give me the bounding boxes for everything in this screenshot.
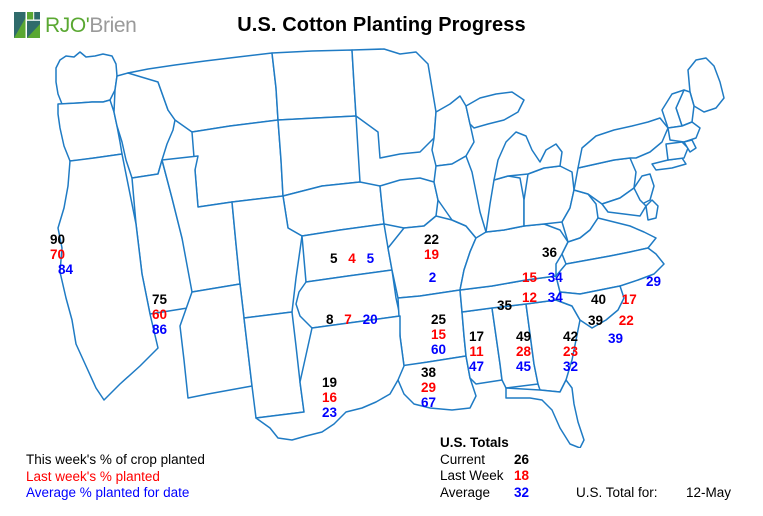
tn-last-week: 12 <box>522 290 537 305</box>
state-values-ga: 42 23 32 <box>563 329 578 374</box>
state-values-la: 38 29 67 <box>421 365 436 410</box>
ca-current: 90 <box>42 232 73 247</box>
al-average: 45 <box>516 359 531 374</box>
sc-current: 39 <box>588 313 603 328</box>
state-shape-mi-up <box>466 92 524 128</box>
az-current: 75 <box>152 292 167 307</box>
totals-row-current: Current26 <box>440 452 529 469</box>
ks-last-week: 4 <box>348 251 356 266</box>
totals-row-last-week: Last Week18 <box>440 468 529 485</box>
mo-last-week: 19 <box>424 247 439 262</box>
ar-last-week: 15 <box>431 327 446 342</box>
la-last-week: 29 <box>421 380 436 395</box>
al-current: 49 <box>516 329 531 344</box>
state-shape-ct <box>666 142 688 160</box>
state-shape-nm <box>244 312 304 418</box>
state-values-nc-average: 29 <box>646 274 661 289</box>
state-values-ca: 90 70 84 <box>42 232 73 277</box>
ks-current: 5 <box>330 251 338 266</box>
state-values-al: 49 28 45 <box>516 329 531 374</box>
tn-average: 34 <box>548 290 563 305</box>
tn-current: 35 <box>497 298 512 313</box>
totals-label-last-week: Last Week <box>440 468 514 485</box>
state-values-tn-detail: 12 34 <box>522 290 563 305</box>
state-values-ky-detail: 15 34 <box>522 270 563 285</box>
totals-value-last-week: 18 <box>514 468 529 483</box>
state-shape-la <box>398 356 476 410</box>
state-values-tx: 19 16 23 <box>322 375 337 420</box>
state-shape-de <box>646 200 658 220</box>
us-totals-title: U.S. Totals <box>440 435 529 452</box>
az-average: 86 <box>152 322 167 337</box>
mo-current: 22 <box>424 232 439 247</box>
us-total-date: 12-May <box>686 485 731 500</box>
tx-last-week: 16 <box>322 390 337 405</box>
ok-average: 20 <box>363 312 378 327</box>
state-shape-ia <box>380 178 438 228</box>
legend-item-average: Average % planted for date <box>26 485 205 502</box>
az-last-week: 60 <box>152 307 167 322</box>
state-values-ok: 8 7 20 <box>326 312 378 327</box>
state-values-ms: 17 11 47 <box>469 329 484 374</box>
us-totals: U.S. Totals Current26 Last Week18 Averag… <box>440 435 529 501</box>
totals-label-current: Current <box>440 452 514 469</box>
us-map <box>0 48 763 448</box>
mo-average: 2 <box>426 270 439 285</box>
legend-item-last-week: Last week's % planted <box>26 469 205 486</box>
ky-last-week: 15 <box>522 270 537 285</box>
state-shape-wa <box>56 52 117 104</box>
state-values-sc-average: 39 <box>608 331 623 346</box>
state-shape-az <box>180 284 252 398</box>
ms-last-week: 11 <box>469 344 484 359</box>
totals-value-current: 26 <box>514 452 529 467</box>
state-values-tn-current: 35 <box>497 298 512 313</box>
page-title: U.S. Cotton Planting Progress <box>0 14 763 37</box>
legend-item-current: This week's % of crop planted <box>26 452 205 469</box>
state-values-ks: 5 4 5 <box>330 251 374 266</box>
sc-average: 39 <box>608 331 623 346</box>
state-shape-in <box>486 176 524 232</box>
state-shape-or <box>58 100 122 161</box>
nc-current: 40 <box>591 292 606 307</box>
ks-average: 5 <box>367 251 375 266</box>
state-values-mo: 22 19 2 <box>424 232 439 285</box>
ms-average: 47 <box>469 359 484 374</box>
state-values-nc-detail: 40 17 <box>591 292 637 307</box>
ky-current: 36 <box>542 245 557 260</box>
nc-last-week: 17 <box>622 292 637 307</box>
state-shape-mn <box>352 49 436 158</box>
nc-average: 29 <box>646 274 661 289</box>
ok-last-week: 7 <box>344 312 352 327</box>
ar-average: 60 <box>431 342 446 357</box>
state-values-ar: 25 15 60 <box>431 312 446 357</box>
us-total-for-label: U.S. Total for: <box>576 485 658 500</box>
ga-average: 32 <box>563 359 578 374</box>
tx-current: 19 <box>322 375 337 390</box>
us-map-svg <box>0 48 763 448</box>
ga-current: 42 <box>563 329 578 344</box>
state-shape-nd <box>272 50 356 120</box>
totals-row-average: Average32 <box>440 485 529 502</box>
ar-current: 25 <box>431 312 446 327</box>
totals-value-average: 32 <box>514 485 529 500</box>
ky-average: 34 <box>548 270 563 285</box>
ga-last-week: 23 <box>563 344 578 359</box>
state-shape-wy <box>192 120 283 207</box>
tx-average: 23 <box>322 405 337 420</box>
sc-last-week: 22 <box>619 313 634 328</box>
la-current: 38 <box>421 365 436 380</box>
state-values-az: 75 60 86 <box>152 292 167 337</box>
la-average: 67 <box>421 395 436 410</box>
state-values-sc-detail: 39 22 <box>588 313 634 328</box>
al-last-week: 28 <box>516 344 531 359</box>
legend: This week's % of crop planted Last week'… <box>26 452 205 502</box>
totals-label-average: Average <box>440 485 514 502</box>
ca-last-week: 70 <box>42 247 73 262</box>
ok-current: 8 <box>326 312 334 327</box>
ca-average: 84 <box>58 262 73 277</box>
ms-current: 17 <box>469 329 484 344</box>
cotton-planting-progress-page: RJO'Brien U.S. Cotton Planting Progress <box>0 0 763 516</box>
state-values-ky-current: 36 <box>542 245 557 260</box>
